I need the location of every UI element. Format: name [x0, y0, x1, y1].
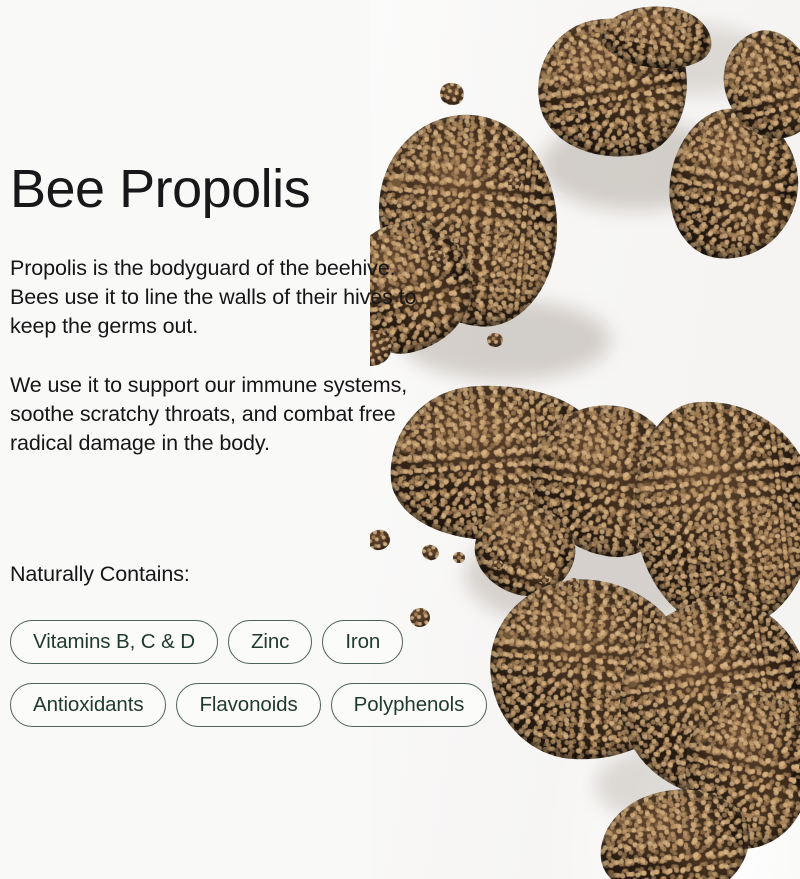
page-title: Bee Propolis [10, 158, 310, 220]
description-paragraph-2: We use it to support our immune systems,… [10, 371, 440, 458]
text-column: Bee Propolis Propolis is the bodyguard o… [10, 0, 630, 879]
product-ingredient-panel: Bee Propolis Propolis is the bodyguard o… [0, 0, 800, 879]
ingredient-pill-row: Vitamins B, C & D Zinc Iron [10, 620, 630, 664]
ingredient-pill-list: Vitamins B, C & D Zinc Iron Antioxidants… [10, 620, 630, 746]
ingredient-pill-flavonoids[interactable]: Flavonoids [176, 683, 320, 727]
ingredient-pill-zinc[interactable]: Zinc [228, 620, 312, 664]
ingredient-pill-antioxidants[interactable]: Antioxidants [10, 683, 166, 727]
ingredient-pill-row: Antioxidants Flavonoids Polyphenols [10, 683, 630, 727]
description-paragraph-1: Propolis is the bodyguard of the beehive… [10, 254, 440, 341]
naturally-contains-label: Naturally Contains: [10, 560, 190, 588]
ingredient-pill-vitamins[interactable]: Vitamins B, C & D [10, 620, 218, 664]
ingredient-pill-iron[interactable]: Iron [322, 620, 403, 664]
ingredient-pill-polyphenols[interactable]: Polyphenols [331, 683, 488, 727]
